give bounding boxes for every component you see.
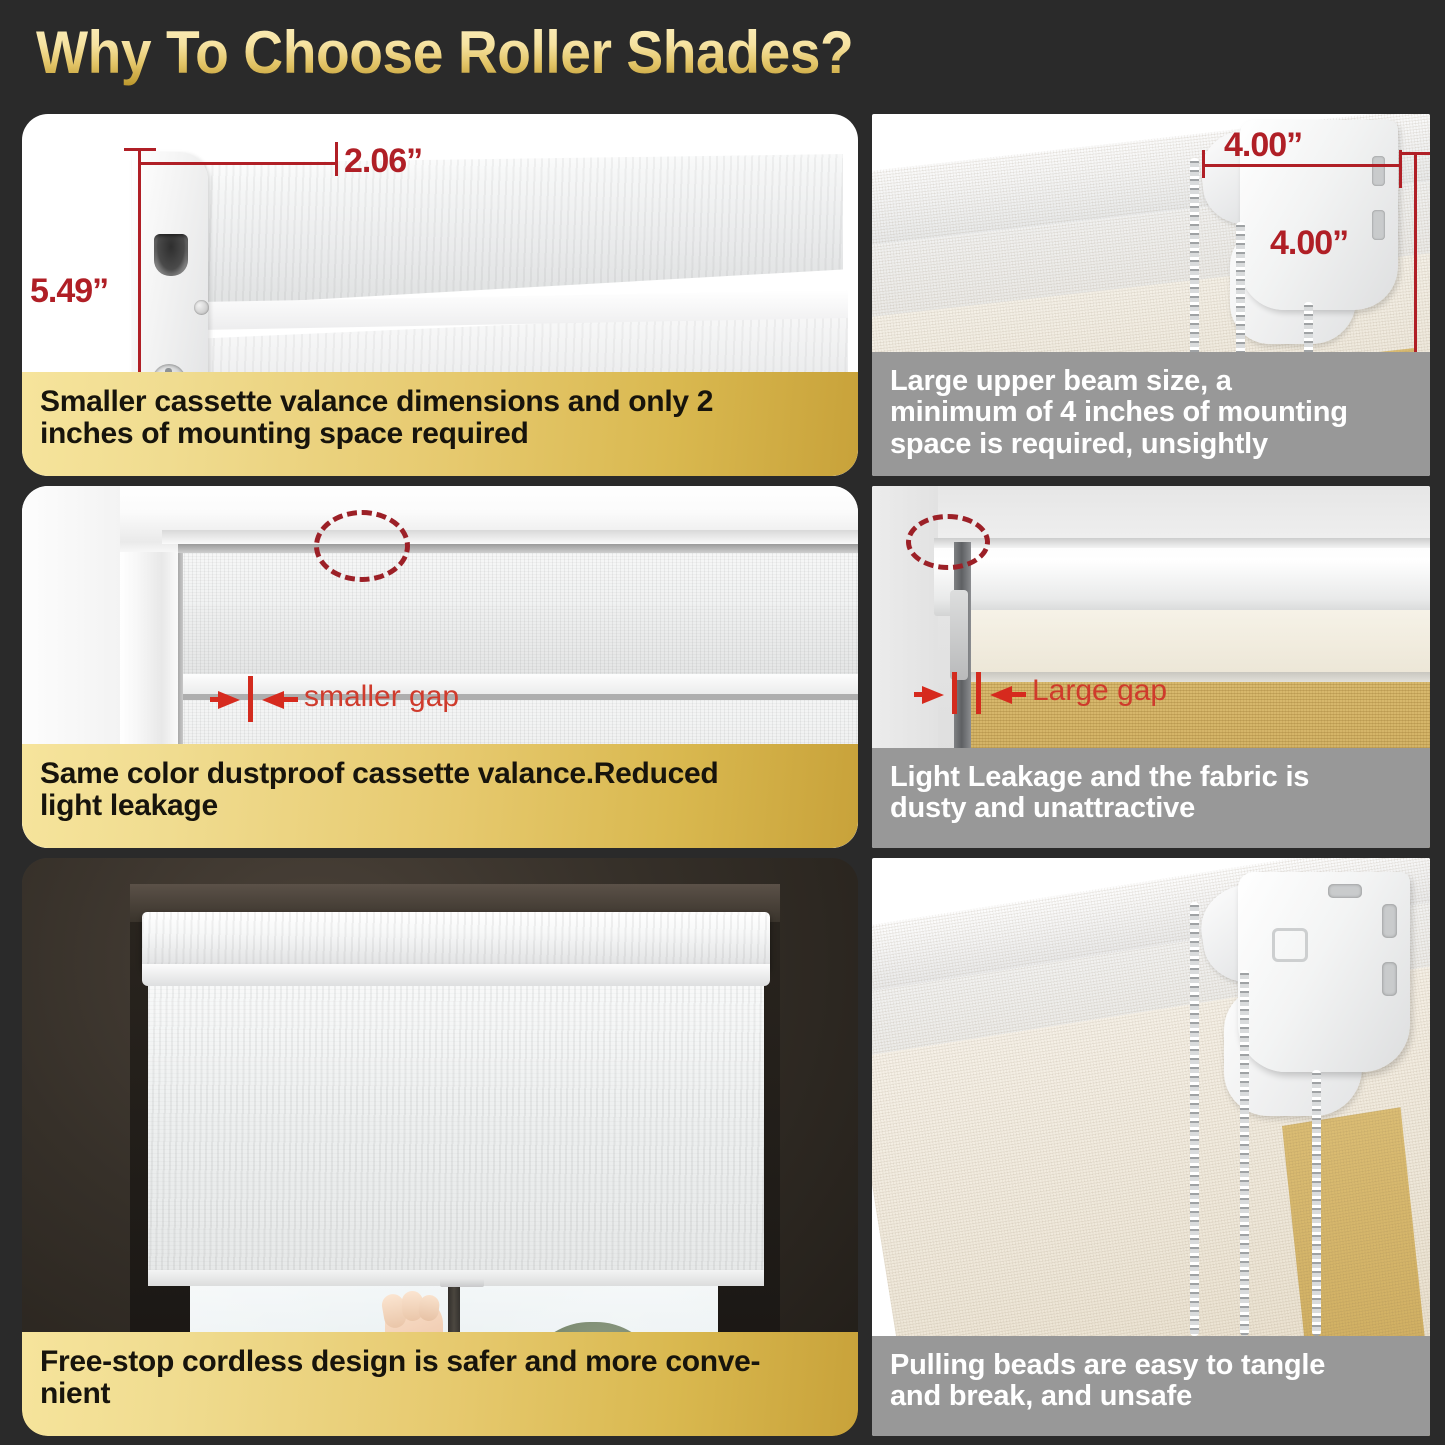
shade-hook bbox=[950, 590, 968, 680]
beam-height-tick-top bbox=[1400, 152, 1430, 155]
panel-3-caption-line-1: Same color dustproof cassette valance.Re… bbox=[40, 758, 840, 790]
panel-large-upper-beam: 4.00” 4.00” Large upper beam size, a min… bbox=[872, 114, 1430, 476]
beam-width-label: 4.00” bbox=[1224, 126, 1302, 165]
beam-height-label: 4.00” bbox=[1270, 224, 1348, 263]
panel-1-caption-line-1: Smaller cassette valance dimensions and … bbox=[40, 386, 840, 418]
competitor-valance-cap bbox=[934, 538, 1430, 548]
height-tick-top bbox=[124, 148, 156, 151]
gap-arrow-left-icon bbox=[262, 691, 284, 709]
competitor-valance bbox=[934, 538, 1430, 616]
highlight-circle-icon bbox=[906, 514, 990, 570]
bracket-notch-2 bbox=[1372, 210, 1385, 240]
bead-chain-left bbox=[1190, 902, 1199, 1336]
shade-upper-shadow bbox=[180, 604, 858, 676]
panel-2-caption-line-1: Large upper beam size, a bbox=[890, 366, 1412, 397]
panel-5-caption-line-2: nient bbox=[40, 1378, 840, 1410]
cassette-headrail bbox=[142, 912, 770, 970]
bracket-slot-upper bbox=[154, 234, 188, 276]
page-title: Why To Choose Roller Shades? bbox=[36, 18, 924, 87]
panel-6-caption-line-2: and break, and unsafe bbox=[890, 1381, 1412, 1412]
highlight-circle-icon bbox=[314, 510, 410, 582]
panel-5-caption-line-1: Free-stop cordless design is safer and m… bbox=[40, 1346, 840, 1378]
bracket-notch-3 bbox=[1328, 884, 1362, 898]
gap-arrow-left-icon bbox=[990, 686, 1012, 704]
panel-pulling-beads: Pulling beads are easy to tangle and bre… bbox=[872, 858, 1430, 1436]
panel-light-leakage: Large gap Light Leakage and the fabric i… bbox=[872, 486, 1430, 848]
page-title-text: Why To Choose Roller Shades? bbox=[36, 18, 853, 87]
valance-top-bar bbox=[198, 154, 843, 306]
panel-2-caption-line-3: space is required, unsightly bbox=[890, 429, 1412, 460]
panel-4-caption-line-1: Light Leakage and the fabric is bbox=[890, 762, 1412, 793]
roller-shade-panel bbox=[148, 984, 764, 1282]
gap-marker-bar bbox=[952, 672, 957, 714]
panel-2-caption-line-2: minimum of 4 inches of mounting bbox=[890, 397, 1412, 428]
gap-marker-bar-2 bbox=[976, 672, 981, 714]
width-dimension-label: 2.06” bbox=[344, 142, 422, 181]
panel-cordless-design: Free-stop cordless design is safer and m… bbox=[22, 858, 858, 1436]
panel-5-caption: Free-stop cordless design is safer and m… bbox=[22, 1332, 858, 1436]
competitor-cream-band bbox=[956, 610, 1430, 678]
panel-2-caption: Large upper beam size, a minimum of 4 in… bbox=[872, 352, 1430, 476]
smaller-gap-label: smaller gap bbox=[304, 680, 459, 714]
panel-6-caption: Pulling beads are easy to tangle and bre… bbox=[872, 1336, 1430, 1436]
bracket-notch-1 bbox=[1382, 904, 1397, 938]
panel-dustproof-valance: smaller gap Same color dustproof cassett… bbox=[22, 486, 858, 848]
panel-6-caption-line-1: Pulling beads are easy to tangle bbox=[890, 1350, 1412, 1381]
panel-3-caption: Same color dustproof cassette valance.Re… bbox=[22, 744, 858, 848]
gap-arrow-left-tail bbox=[1012, 692, 1026, 697]
bead-chain-right bbox=[1312, 1070, 1321, 1336]
beam-height-line bbox=[1414, 152, 1417, 356]
bracket-screw bbox=[194, 300, 209, 315]
comparison-grid: 2.06” 5.49” Smaller cassette valance dim… bbox=[0, 108, 1445, 1445]
window-frame-bevel bbox=[162, 530, 858, 544]
panel-4-caption-line-2: dusty and unattractive bbox=[890, 793, 1412, 824]
panel-3-caption-line-2: light leakage bbox=[40, 790, 840, 822]
panel-4-caption: Light Leakage and the fabric is dusty an… bbox=[872, 748, 1430, 848]
bracket-notch-1 bbox=[1372, 156, 1385, 186]
bead-chain-mid bbox=[1240, 970, 1249, 1336]
beam-width-tick-left bbox=[1202, 150, 1205, 178]
bracket-notch-2 bbox=[1382, 962, 1397, 996]
panel-smaller-cassette: 2.06” 5.49” Smaller cassette valance dim… bbox=[22, 114, 858, 476]
shade-pull-tab bbox=[440, 1278, 484, 1287]
width-tick-right bbox=[335, 142, 338, 176]
height-dimension-label: 5.49” bbox=[30, 272, 108, 311]
gap-marker-bar bbox=[248, 676, 253, 722]
beam-width-tick-right bbox=[1399, 150, 1402, 188]
finger-3 bbox=[417, 1294, 440, 1322]
headrail-shadow bbox=[178, 544, 858, 553]
gap-arrow-right-tail bbox=[914, 692, 926, 697]
large-gap-label: Large gap bbox=[1032, 674, 1167, 708]
cassette-headrail-lip bbox=[142, 964, 770, 986]
panel-1-caption-line-2: inches of mounting space required bbox=[40, 418, 840, 450]
gap-arrow-right-tail bbox=[210, 697, 222, 702]
gap-arrow-left-tail bbox=[284, 697, 298, 702]
bracket-glyph-upper-icon bbox=[1272, 928, 1308, 962]
panel-1-caption: Smaller cassette valance dimensions and … bbox=[22, 372, 858, 476]
width-dimension-line bbox=[138, 162, 338, 165]
